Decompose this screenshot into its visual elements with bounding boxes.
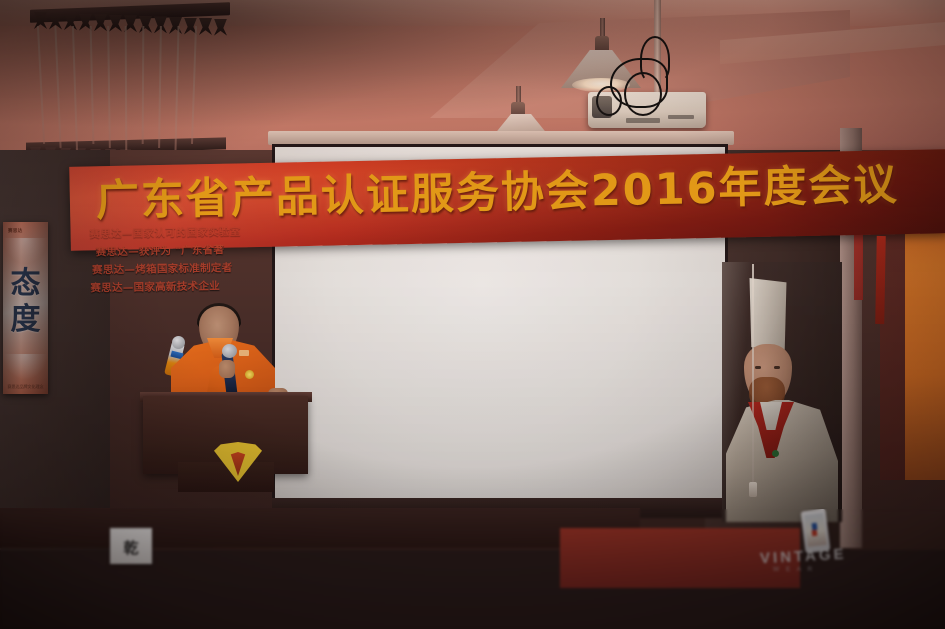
conference-photograph: 赛思达 态度 赛思达品牌文化理念 广东省产品认证服务协会2016年度会议 赛思达… — [0, 0, 945, 629]
poster-attitude-shading — [3, 222, 48, 394]
smartphone-screen-subject-lower — [812, 530, 818, 537]
name-placard-character: 乾 — [110, 537, 152, 558]
banner-slogan-panel: 赛思达—国家认可的国家实验室 赛思达—获评为 "广东省著 赛思达—烤箱国家标准制… — [89, 222, 268, 305]
speaker-hand-holding-mic — [219, 360, 235, 378]
name-placard: 乾 — [110, 528, 152, 564]
slogan-line: 赛思达—国家高新技术企业 — [90, 276, 268, 297]
projection-screen-case — [268, 131, 734, 145]
banner-tail-strip — [875, 236, 886, 324]
speaker-shirt-logo — [239, 350, 249, 356]
jacket-brand-subtext: W E A R — [773, 566, 815, 573]
speaker-lapel-badge — [245, 370, 254, 379]
stand-microphone-head — [172, 336, 185, 349]
